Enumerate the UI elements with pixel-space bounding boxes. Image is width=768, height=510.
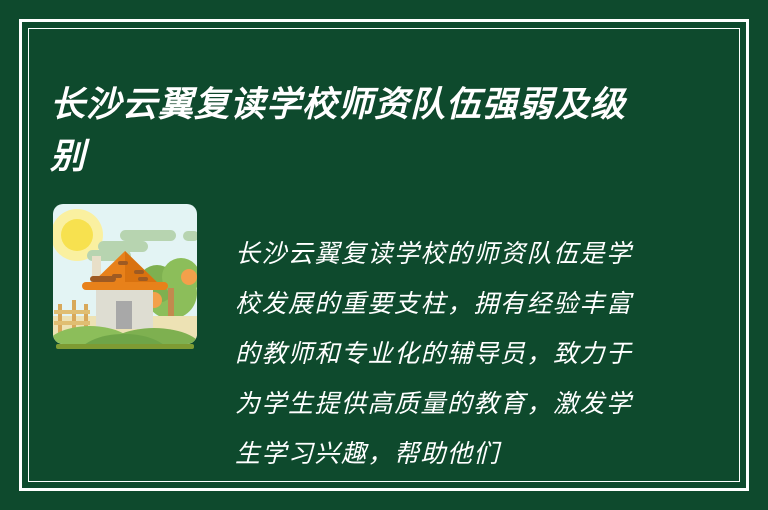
countryside-house-illustration — [50, 204, 200, 356]
poster-card: 长沙云翼复读学校师资队伍强弱及级别 — [0, 0, 768, 510]
body-paragraph: 长沙云翼复读学校的师资队伍是学校发展的重要支柱，拥有经验丰富的教师和专业化的辅导… — [235, 229, 655, 479]
content-row: 长沙云翼复读学校的师资队伍是学校发展的重要支柱，拥有经验丰富的教师和专业化的辅导… — [50, 204, 728, 504]
page-title: 长沙云翼复读学校师资队伍强弱及级别 — [50, 79, 650, 183]
illustration-container — [50, 204, 200, 356]
